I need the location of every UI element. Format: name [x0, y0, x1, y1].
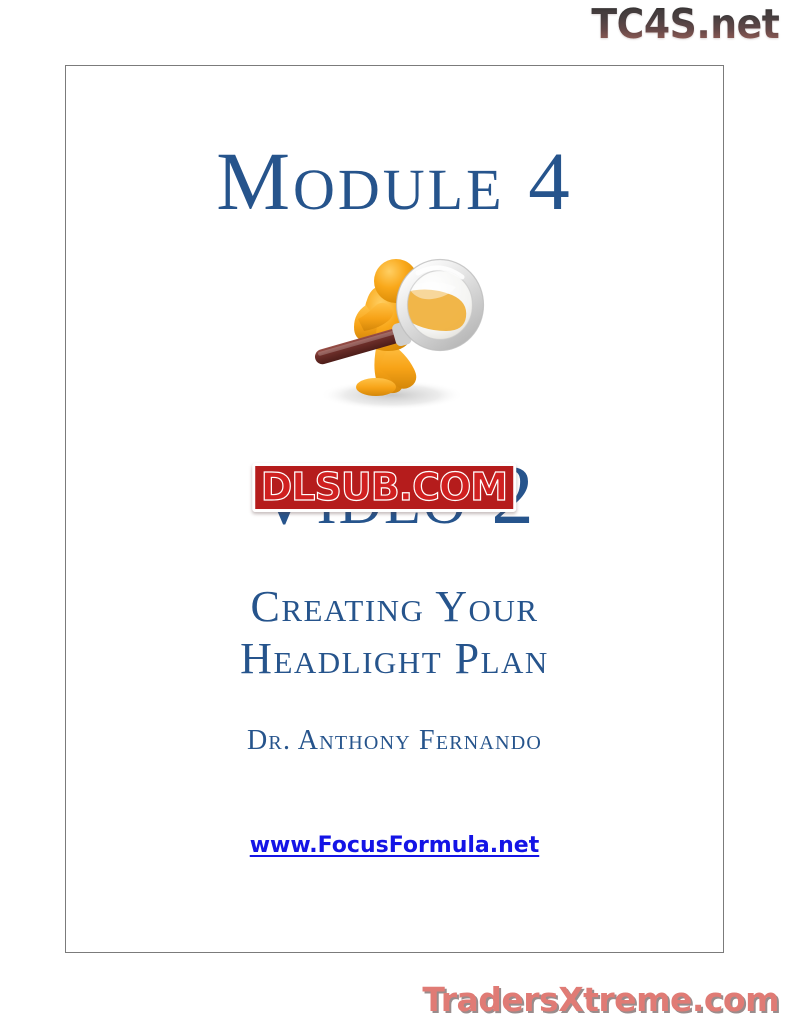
- dlsub-site-watermark: DLSUB.COM: [252, 463, 516, 512]
- page-content: Module 4: [66, 66, 723, 952]
- module-title: Module 4: [216, 140, 573, 223]
- tradersxtreme-site-watermark: TradersXtreme.com: [422, 983, 779, 1016]
- tc4s-site-watermark: TC4S.net: [591, 4, 779, 45]
- subtitle-line-2: Headlight Plan: [240, 633, 549, 685]
- website-link[interactable]: www.FocusFormula.net: [250, 833, 540, 858]
- magnifying-glass-figure-illustration: [290, 243, 500, 413]
- document-page: Module 4: [65, 65, 724, 953]
- subtitle-line-1: Creating Your: [240, 581, 549, 633]
- cover-subtitle: Creating Your Headlight Plan: [240, 581, 549, 685]
- video-title-row: Video 2 DLSUB.COM: [66, 451, 723, 547]
- author-name: Dr. Anthony Fernando: [247, 725, 542, 757]
